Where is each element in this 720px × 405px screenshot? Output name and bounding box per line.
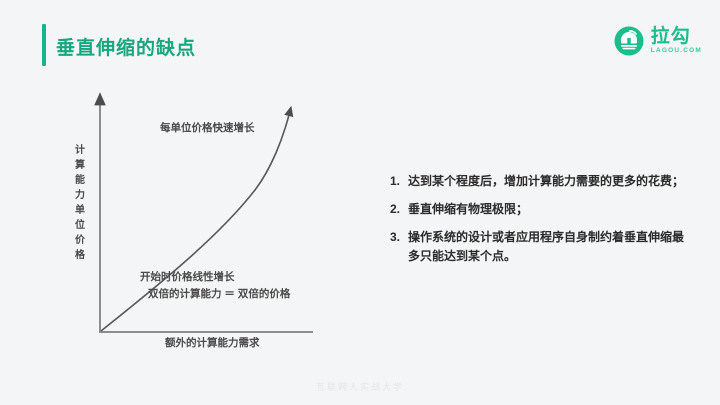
cost-vs-capacity-chart: 计算能力单位价格 每单位价格快速增长 开始时价格线性增长 双倍的计算能力 ＝ 双… [55,85,355,360]
list-item: 2. 垂直伸缩有物理极限； [390,200,690,219]
exponential-growth-note: 每单位价格快速增长 [160,120,255,135]
drawbacks-list: 1. 达到某个程度后，增加计算能力需要的更多的花费； 2. 垂直伸缩有物理极限；… [390,172,690,275]
x-axis-label: 额外的计算能力需求 [165,335,260,350]
page-title: 垂直伸缩的缺点 [56,33,196,60]
y-axis-label: 计算能力单位价格 [73,143,87,263]
logo-text-group: 拉勾 LAGOU.COM [651,27,702,55]
list-item-label: 达到某个程度后，增加计算能力需要的更多的花费； [408,172,690,191]
list-item-label: 操作系统的设计或者应用程序自身制约着垂直伸缩最多只能达到某个点。 [408,228,690,266]
list-item-number: 2. [390,200,408,219]
slide-watermark: 互联网人实战大学 [0,380,720,393]
lagou-circle-logo-icon [614,26,644,56]
linear-growth-note-line1: 开始时价格线性增长 [140,269,235,284]
logo-domain: LAGOU.COM [651,48,702,55]
list-item: 1. 达到某个程度后，增加计算能力需要的更多的花费； [390,172,690,191]
list-item-number: 3. [390,228,408,247]
list-item-number: 1. [390,172,408,191]
lagou-logo[interactable]: 拉勾 LAGOU.COM [614,26,702,56]
linear-growth-note-line2: 双倍的计算能力 ＝ 双倍的价格 [148,286,290,301]
title-accent-bar [42,24,46,66]
slide-canvas: 垂直伸缩的缺点 拉勾 LAGOU.COM [0,0,720,405]
list-item-label: 垂直伸缩有物理极限； [408,200,690,219]
slide-header: 垂直伸缩的缺点 拉勾 LAGOU.COM [0,0,720,86]
logo-wordmark: 拉勾 [651,27,691,46]
list-item: 3. 操作系统的设计或者应用程序自身制约着垂直伸缩最多只能达到某个点。 [390,228,690,266]
